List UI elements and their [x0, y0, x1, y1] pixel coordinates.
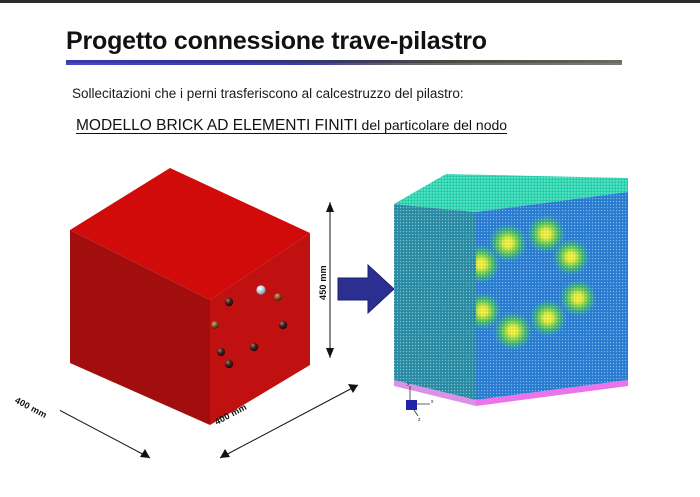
dowel-stud	[279, 321, 287, 329]
presentation-slide: Progetto connessione trave-pilastro Soll…	[0, 0, 700, 497]
dowel-stud	[217, 348, 225, 356]
dimension-label-depth: 400 mm	[13, 395, 48, 420]
axis-label-y: y	[407, 381, 410, 387]
dowel-stud	[250, 343, 258, 351]
dowel-stud	[211, 321, 219, 329]
transition-arrow-icon	[336, 262, 396, 316]
subtitle-text: Sollecitazioni che i perni trasferiscono…	[72, 86, 464, 101]
axis-label-x: x	[431, 399, 434, 405]
model-name-caps: MODELLO BRICK AD ELEMENTI FINITI	[76, 117, 358, 134]
slide-top-border	[0, 0, 700, 3]
solid-block-svg	[60, 160, 420, 490]
axis-label-z: z	[418, 417, 421, 422]
title-block: Progetto connessione trave-pilastro	[66, 26, 646, 56]
model-name-rest: del particolare del nodo	[358, 117, 507, 133]
mesh-left-face-texture	[394, 204, 476, 400]
dimension-label-height: 450 mm	[318, 265, 328, 300]
dowel-stud	[225, 360, 233, 368]
triad-origin-block	[406, 400, 417, 410]
dowel-stud	[225, 298, 233, 306]
title-underline-bar	[66, 60, 622, 65]
page-title: Progetto connessione trave-pilastro	[66, 26, 646, 56]
model-description-line: MODELLO BRICK AD ELEMENTI FINITI del par…	[76, 117, 507, 135]
dowel-stud	[274, 293, 282, 301]
coordinate-axis-triad: y x z	[398, 378, 440, 422]
mesh-front-face-texture	[476, 192, 628, 400]
dowel-stud	[256, 285, 265, 294]
